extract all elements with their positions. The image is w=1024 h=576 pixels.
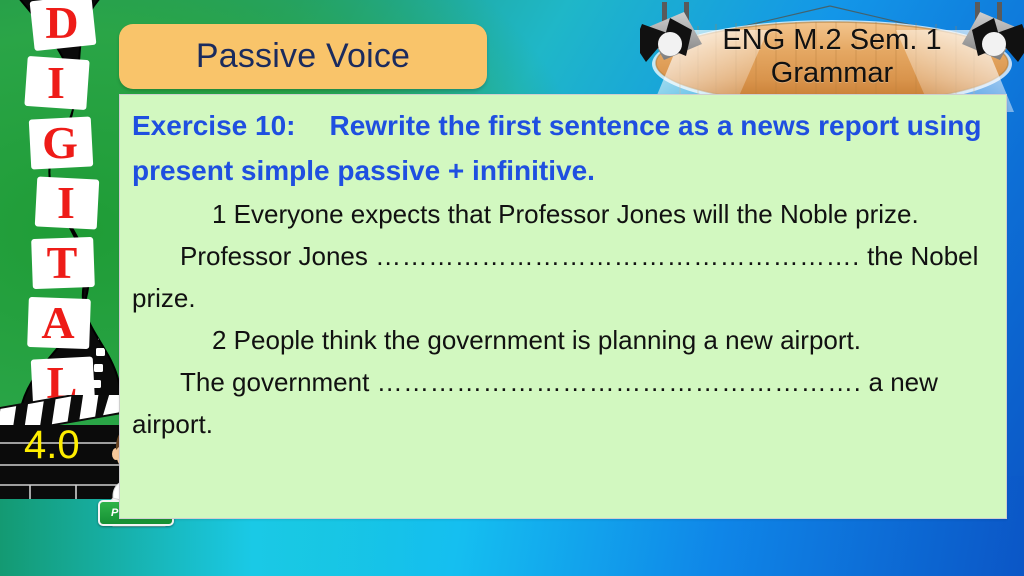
question-1-prompt: 1 Everyone expects that Professor Jones … [132,193,992,235]
brand-letter-a: A [41,297,74,348]
slide-title-pill[interactable]: Passive Voice [119,24,487,89]
slide-canvas: D I G I T A L [0,0,1024,576]
question-2-answer[interactable]: The government ………………………………………………. a new… [132,361,992,445]
brand-letter-d: D [45,0,78,48]
question-2-answer-suffix: a new [869,367,938,397]
question-1-answer[interactable]: Professor Jones ………………………………………………. the … [132,235,992,319]
exercise-heading: Exercise 10:Rewrite the first sentence a… [132,103,992,193]
question-2-prompt-text: 2 People think the government is plannin… [212,325,773,355]
page-title: Passive Voice [196,37,410,76]
brand-letter-i2: I [57,177,75,228]
exercise-label: Exercise 10: [132,110,295,141]
brand-letter-g: G [42,117,78,168]
content-panel: Exercise 10:Rewrite the first sentence a… [119,94,1007,519]
question-2-answer-wrap: airport. [132,409,213,439]
exercise-instruction-part1: Rewrite the first sentence as a news [329,110,810,141]
clapper-version-label: 4.0 [24,425,80,465]
question-1-answer-blank[interactable]: ………………………………………………. [375,241,860,271]
question-2-answer-prefix: The government [180,367,369,397]
brand-letter-t: T [47,237,78,288]
question-1-answer-suffix: the [867,241,903,271]
brand-letter-i1: I [47,57,65,108]
film-strip-icon: D I G I T A L [2,0,124,412]
question-1-answer-prefix: Professor Jones [180,241,368,271]
question-1-prompt-wrap: prize. [855,199,919,229]
question-2-prompt-wrap: airport. [780,325,861,355]
question-1-prompt-text: 1 Everyone expects that Professor Jones … [212,199,848,229]
question-2-prompt: 2 People think the government is plannin… [132,319,992,361]
question-2-answer-blank[interactable]: ………………………………………………. [377,367,862,397]
